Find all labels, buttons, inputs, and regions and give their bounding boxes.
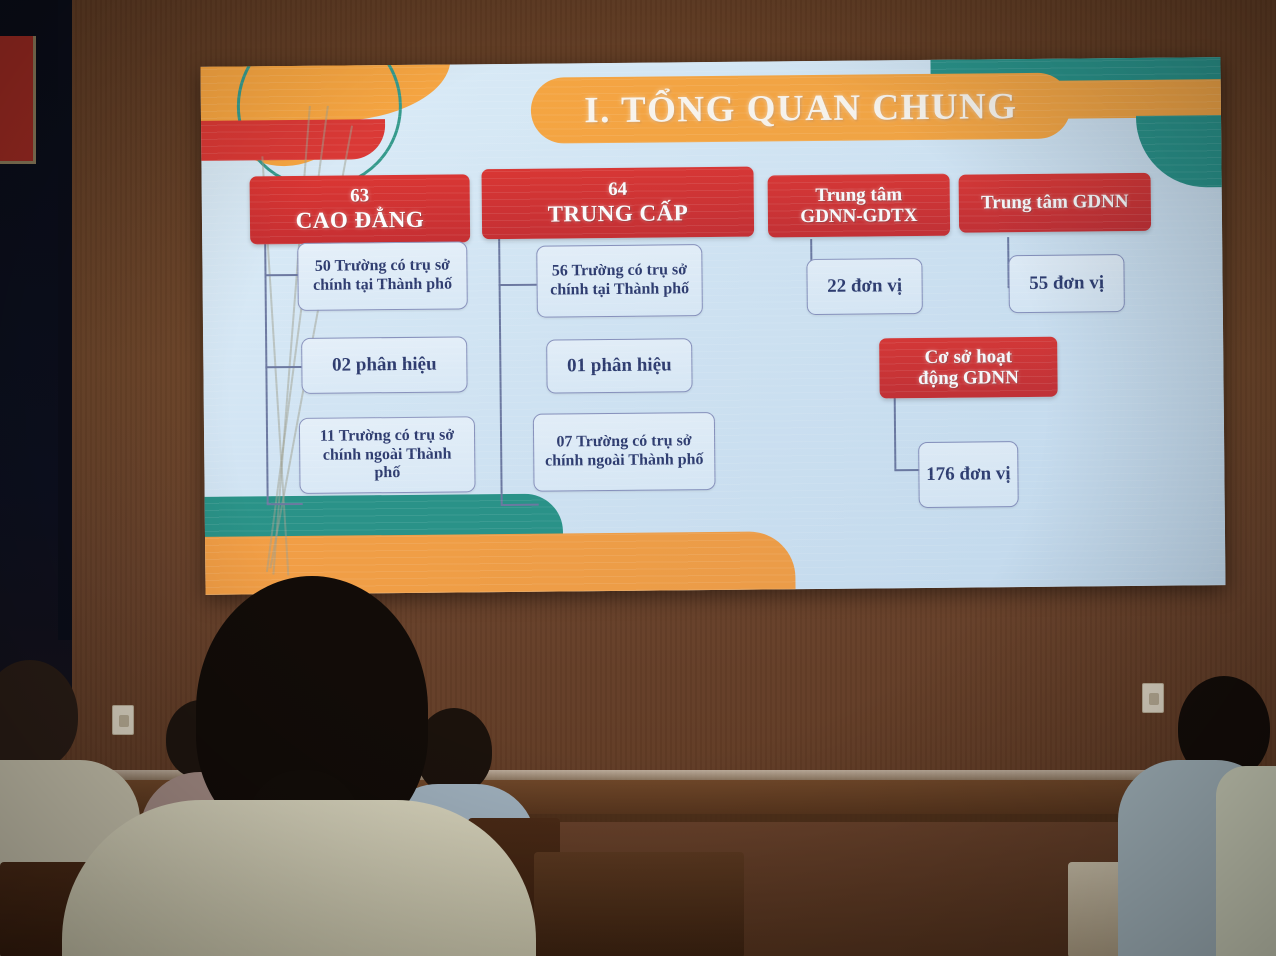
trung-cap-item-2-text: 01 phân hiệu	[567, 354, 672, 377]
cao-dang-item-1-text: 50 Trường có trụ sở chính tại Thành phố	[306, 257, 458, 296]
header-cao-dang[interactable]: 63 CAO ĐẲNG	[250, 174, 471, 244]
trung-cap-item-3-text: 07 Trường có trụ sở chính ngoài Thành ph…	[542, 432, 706, 471]
header-trung-tam-gdnn[interactable]: Trung tâm GDNN	[959, 173, 1152, 233]
header-trung-tam-gdnn-gdtx[interactable]: Trung tâm GDNN-GDTX	[768, 174, 951, 238]
chair-mid-2	[534, 852, 744, 956]
header-cao-dang-number: 63	[350, 186, 369, 207]
page-title: I. TỔNG QUAN CHUNG	[584, 85, 1018, 132]
gdnn-gdtx-value-text: 22 đơn vị	[827, 275, 902, 298]
header-gdtx-line1: Trung tâm	[815, 184, 902, 206]
cao-dang-item-2[interactable]: 02 phân hiệu	[301, 336, 468, 394]
connector-caodang-2	[265, 366, 301, 368]
header-cao-dang-label: CAO ĐẲNG	[296, 207, 425, 234]
connector-caodang-1	[264, 274, 300, 276]
trung-cap-item-1-text: 56 Trường có trụ sở chính tại Thành phố	[545, 261, 693, 300]
cao-dang-item-3-text: 11 Trường có trụ sở chính ngoài Thành ph…	[308, 426, 467, 484]
header-gdnn-label: Trung tâm GDNN	[981, 191, 1129, 214]
left-dark-band	[58, 0, 72, 640]
deco-red-bar-left	[200, 119, 385, 161]
trung-cap-item-2[interactable]: 01 phân hiệu	[546, 338, 693, 393]
header-gdtx-line2: GDNN-GDTX	[800, 205, 917, 227]
gdnn-gdtx-value-box[interactable]: 22 đơn vị	[806, 258, 923, 315]
co-so-hoat-dong-value-box[interactable]: 176 đơn vị	[918, 441, 1019, 508]
trung-tam-gdnn-value-box[interactable]: 55 đơn vị	[1008, 254, 1125, 313]
conference-room-photo: I. TỔNG QUAN CHUNG 63 CA	[0, 0, 1276, 956]
connector-trungcap-1	[499, 284, 537, 286]
slide-title-pill: I. TỔNG QUAN CHUNG	[531, 73, 1072, 144]
header-trung-cap[interactable]: 64 TRUNG CẤP	[481, 167, 754, 240]
trung-tam-gdnn-value-text: 55 đơn vị	[1029, 272, 1104, 295]
cao-dang-item-2-text: 02 phân hiệu	[332, 353, 437, 376]
wall-red-plaque	[0, 36, 36, 164]
deco-teal-bottom-left	[200, 493, 563, 539]
co-so-hoat-dong-value-text: 176 đơn vị	[926, 463, 1011, 486]
projector-screen: I. TỔNG QUAN CHUNG 63 CA	[200, 57, 1225, 595]
header-coso-line2: động GDNN	[918, 367, 1019, 389]
connector-trungcap-spine	[498, 232, 502, 504]
header-co-so-hoat-dong-gdnn[interactable]: Cơ sở hoạt động GDNN	[879, 337, 1058, 399]
wall-outlet-left	[112, 705, 134, 735]
header-coso-line1: Cơ sở hoạt	[924, 346, 1012, 368]
right-person-second-shirt	[1216, 766, 1276, 956]
header-trung-cap-number: 64	[608, 179, 627, 200]
wall-outlet-right	[1142, 683, 1164, 713]
trung-cap-item-1[interactable]: 56 Trường có trụ sở chính tại Thành phố	[536, 244, 703, 318]
cao-dang-item-1[interactable]: 50 Trường có trụ sở chính tại Thành phố	[297, 241, 468, 311]
cao-dang-item-3[interactable]: 11 Trường có trụ sở chính ngoài Thành ph…	[299, 416, 476, 494]
connector-coso-spine	[894, 390, 896, 470]
header-trung-cap-label: TRUNG CẤP	[547, 200, 688, 227]
slide-canvas: I. TỔNG QUAN CHUNG 63 CA	[200, 57, 1225, 595]
trung-cap-item-3[interactable]: 07 Trường có trụ sở chính ngoài Thành ph…	[533, 412, 716, 492]
